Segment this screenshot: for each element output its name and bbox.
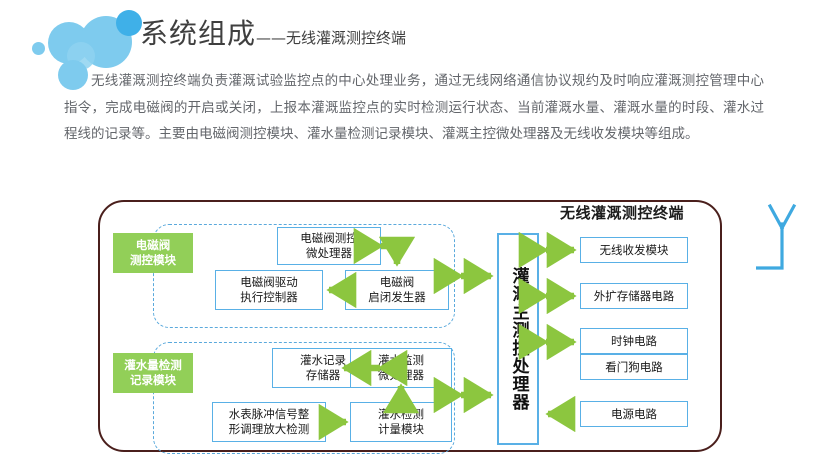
box-pulse-line1: 水表脉冲信号整 — [229, 407, 310, 422]
box-pulse-line2: 形调理放大检测 — [229, 422, 310, 437]
box-valve-driver-line1: 电磁阀驱动 — [240, 275, 298, 290]
box-monitor-mcu: 灌水监测 微处理器 — [350, 348, 452, 388]
box-valve-driver-line2: 执行控制器 — [240, 290, 298, 305]
page-subtitle-dash: —— — [256, 29, 286, 47]
box-watchdog-circuit: 看门狗电路 — [580, 354, 688, 380]
box-clock-circuit: 时钟电路 — [580, 328, 688, 354]
antenna-icon — [756, 202, 816, 292]
box-monitor-mcu-line2: 微处理器 — [378, 368, 424, 383]
label-valve-module: 电磁阀 测控模块 — [113, 233, 193, 273]
system-architecture-diagram: 无线灌溉测控终端 电磁阀 测控模块 灌水量检测 记录模块 电磁阀测控 微处理器 … — [0, 190, 820, 469]
box-pulse-conditioner: 水表脉冲信号整 形调理放大检测 — [212, 402, 326, 442]
box-power-circuit: 电源电路 — [580, 401, 688, 427]
body-paragraph: 无线灌溉测控终端负责灌溉试验监控点的中心处理业务，通过无线网络通信协议规约及时响… — [64, 68, 764, 148]
box-main-processor: 灌溉主测控处理器 — [497, 233, 539, 445]
bubble-icon — [116, 10, 142, 36]
box-ext-memory: 外扩存储器电路 — [580, 283, 688, 309]
label-water-line2: 记录模块 — [130, 373, 176, 388]
page-title: 系统组成 — [140, 12, 256, 52]
title-group: 系统组成 —— 无线灌溉测控终端 — [140, 12, 406, 52]
bubble-icon — [32, 42, 45, 55]
box-record-store-line1: 灌水记录 — [300, 353, 346, 368]
decorative-bubbles — [18, 4, 138, 70]
box-valve-generator-line1: 电磁阀 — [380, 275, 415, 290]
box-valve-generator: 电磁阀 启闭发生器 — [345, 270, 449, 310]
label-valve-line2: 测控模块 — [130, 253, 176, 268]
label-water-module: 灌水量检测 记录模块 — [113, 353, 193, 393]
box-measure-module: 灌水检测 计量模块 — [350, 402, 452, 442]
box-valve-mcu: 电磁阀测控 微处理器 — [277, 227, 381, 265]
diagram-title: 无线灌溉测控终端 — [560, 202, 684, 223]
box-valve-mcu-line1: 电磁阀测控 — [300, 231, 358, 246]
box-monitor-mcu-line1: 灌水监测 — [378, 353, 424, 368]
box-valve-driver: 电磁阀驱动 执行控制器 — [215, 270, 323, 310]
page-subtitle: 无线灌溉测控终端 — [286, 27, 406, 48]
box-valve-generator-line2: 启闭发生器 — [368, 290, 426, 305]
box-record-store-line2: 存储器 — [306, 368, 341, 383]
page-header: 系统组成 —— 无线灌溉测控终端 — [0, 0, 820, 68]
label-water-line1: 灌水量检测 — [124, 358, 182, 373]
box-measure-line1: 灌水检测 — [378, 407, 424, 422]
box-radio-module: 无线收发模块 — [580, 237, 688, 263]
box-measure-line2: 计量模块 — [378, 422, 424, 437]
box-valve-mcu-line2: 微处理器 — [306, 246, 352, 261]
label-valve-line1: 电磁阀 — [136, 238, 171, 253]
